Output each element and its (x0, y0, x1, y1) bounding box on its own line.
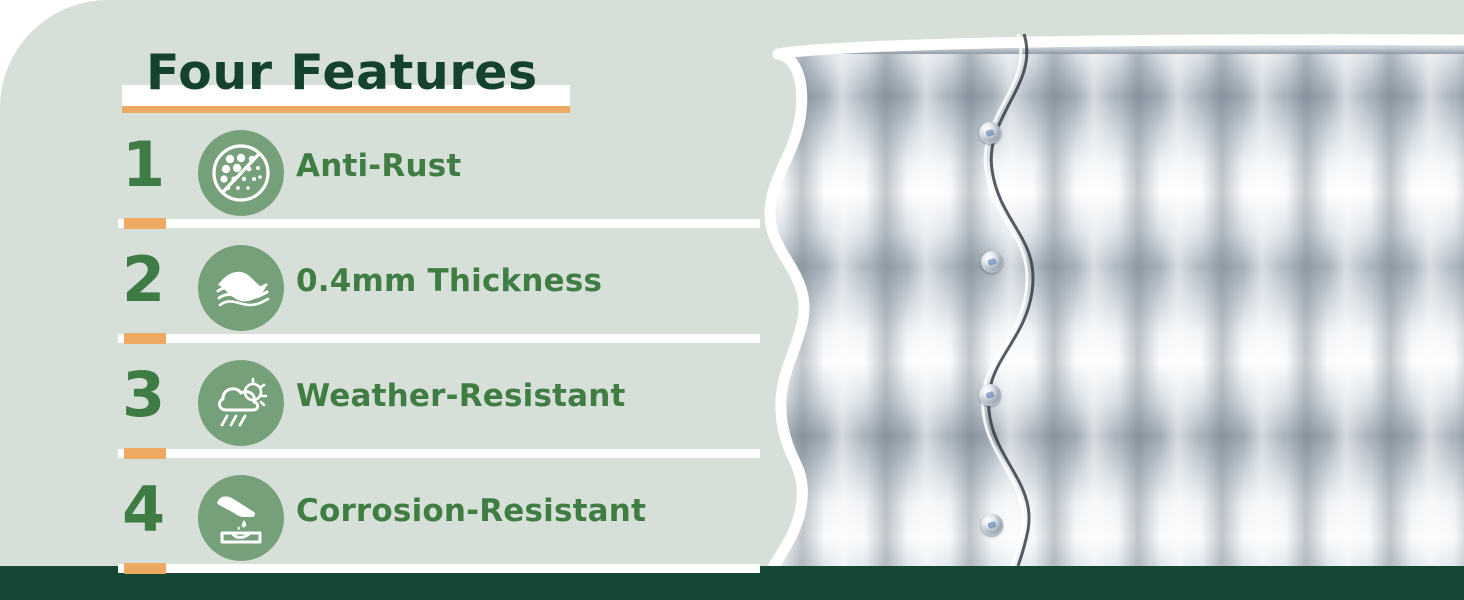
feature-number: 1 (122, 134, 182, 196)
panel-screw (981, 251, 1003, 273)
panel-screw (981, 514, 1003, 536)
feature-number: 2 (122, 249, 182, 311)
feature-row-thickness: 2 0.4mm Thickness (0, 241, 760, 356)
feature-row-weather-resistant: 3 (0, 356, 760, 471)
panel-screw (979, 384, 1001, 406)
feature-accent-dash (124, 333, 166, 344)
page-title: Four Features (122, 44, 572, 118)
feature-label: Anti-Rust (296, 148, 461, 184)
panel-seam (740, 0, 1464, 566)
product-photo (740, 0, 1464, 566)
page-title-text: Four Features (146, 44, 538, 101)
feature-accent-dash (124, 448, 166, 459)
feature-label: 0.4mm Thickness (296, 263, 602, 299)
feature-number: 3 (122, 364, 182, 426)
row-divider (118, 564, 760, 573)
title-underline (122, 106, 570, 113)
feature-label: Corrosion-Resistant (296, 493, 646, 529)
feature-number: 4 (122, 479, 182, 541)
layered-sheets-icon (198, 245, 284, 331)
panel-screw (979, 122, 1001, 144)
infographic-banner: Four Features 1 (0, 0, 1464, 600)
row-divider (118, 334, 760, 343)
sun-cloud-rain-icon (198, 360, 284, 446)
feature-accent-dash (124, 563, 166, 574)
feature-accent-dash (124, 218, 166, 229)
beaker-drip-surface-icon (198, 475, 284, 561)
no-rust-icon (198, 130, 284, 216)
row-divider (118, 219, 760, 228)
row-divider (118, 449, 760, 458)
feature-list: 1 Anti-Rust 2 (0, 126, 760, 586)
feature-label: Weather-Resistant (296, 378, 626, 414)
feature-row-anti-rust: 1 Anti-Rust (0, 126, 760, 241)
